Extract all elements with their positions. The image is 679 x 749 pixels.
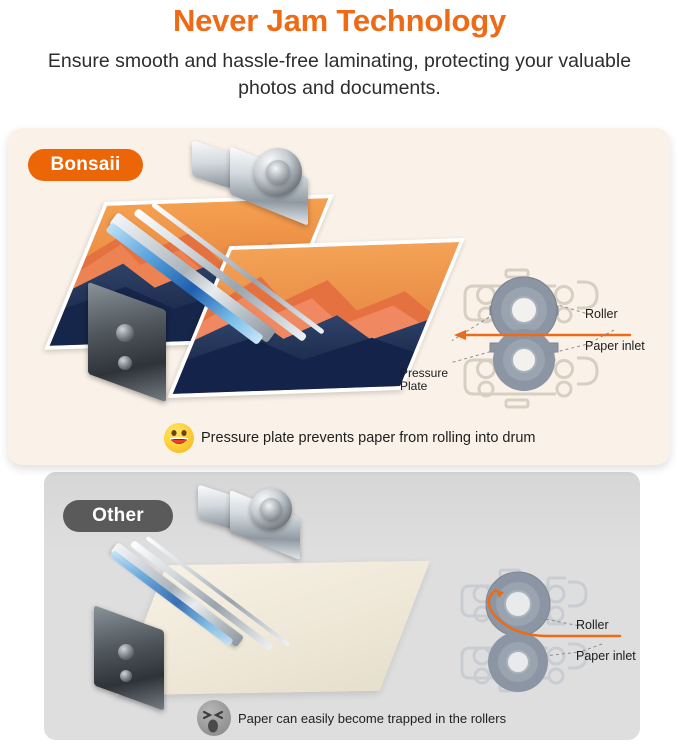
bonsaii-end-block-bolt-icon: [116, 324, 134, 342]
grinning-face-emoji: [164, 423, 194, 453]
weary-face-emoji: [197, 700, 231, 736]
other-roller-diagram: Roller Paper inlet: [452, 556, 667, 696]
end-block-bolt-icon: [118, 644, 134, 660]
page-title: Never Jam Technology: [0, 0, 679, 40]
other-roller-label: Roller: [576, 618, 609, 632]
other-paper-inlet-label: Paper inlet: [576, 649, 636, 663]
bonsaii-caption-row: Pressure plate prevents paper from rolli…: [164, 423, 535, 453]
paper-direction-arrow-icon: [454, 330, 466, 340]
other-caption-row: Paper can easily become trapped in the r…: [197, 700, 506, 736]
page-subtitle: Ensure smooth and hassle-free laminating…: [0, 40, 679, 102]
other-caption-text: Paper can easily become trapped in the r…: [238, 711, 506, 726]
header: Never Jam Technology Ensure smooth and h…: [0, 0, 679, 102]
bonsaii-end-block-bolt-2-icon: [118, 356, 132, 370]
bonsaii-roller-schematic-svg: [452, 262, 672, 412]
badge-other-label: Other: [92, 505, 144, 527]
never-jam-technology-infographic: Never Jam Technology Ensure smooth and h…: [0, 0, 679, 749]
bonsaii-paper-inlet-label: Paper inlet: [585, 339, 645, 353]
badge-other: Other: [63, 500, 173, 532]
bonsaii-drive-gear-inner-icon: [266, 160, 290, 184]
badge-bonsaii-label: Bonsaii: [50, 154, 120, 176]
bonsaii-laminator-illustration: [72, 150, 432, 400]
bonsaii-caption-text: Pressure plate prevents paper from rolli…: [201, 430, 535, 446]
pressure-plate-label: Pressure Plate: [400, 367, 448, 393]
drive-gear-inner-icon: [260, 498, 282, 520]
badge-bonsaii: Bonsaii: [28, 149, 143, 181]
bonsaii-roller-label: Roller: [585, 307, 618, 321]
bonsaii-roller-diagram: Roller Paper inlet Pressure Plate: [452, 262, 672, 412]
roller-schematic-svg: [452, 556, 667, 696]
pressure-plate-label-line2: Plate: [400, 380, 448, 393]
end-block-bolt-2-icon: [120, 670, 132, 682]
